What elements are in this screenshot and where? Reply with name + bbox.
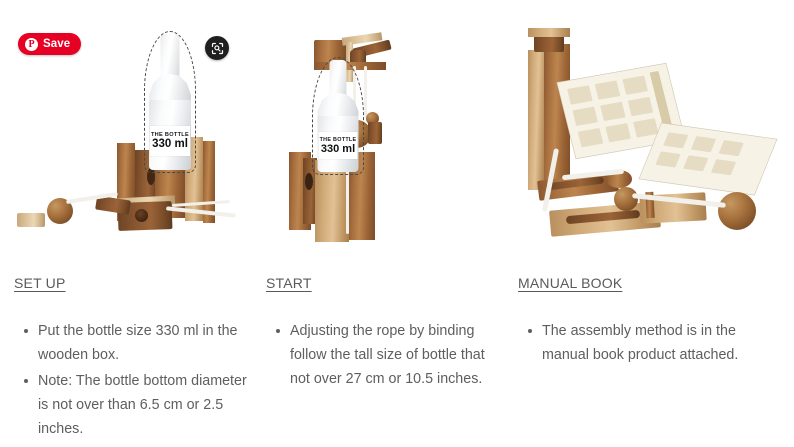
bullet-list-manual-book: The assembly method is in the manual boo… (518, 319, 758, 367)
pinterest-icon: P (25, 38, 38, 51)
manual-figure (691, 136, 716, 152)
manual-figure (663, 132, 688, 148)
bottle-neck (330, 60, 347, 98)
rope-hanging-right (364, 66, 367, 118)
wood-peg-block (368, 122, 382, 144)
manual-figure (719, 140, 744, 156)
manual-book-right-page (639, 123, 776, 195)
product-instructions-page: THE BOTTLE 330 ml P (0, 0, 794, 447)
bullet-list-start: Adjusting the rope by binding follow the… (266, 319, 498, 391)
bottle-330ml: THE BOTTLE 330 ml (147, 34, 193, 170)
list-item: The assembly method is in the manual boo… (518, 319, 758, 367)
wood-small-block (17, 213, 45, 227)
visual-search-button[interactable] (205, 36, 229, 60)
manual-figure (622, 76, 648, 95)
wood-slot-hole (305, 173, 313, 190)
bottle-330ml: THE BOTTLE 330 ml (315, 60, 361, 172)
wood-box-front-panel (315, 160, 349, 242)
bullet-list-set-up: Put the bottle size 330 ml in the wooden… (14, 319, 249, 441)
wood-ball-large (718, 192, 756, 230)
wood-tall-box-rim (528, 28, 570, 37)
lens-scan-icon (210, 41, 225, 56)
manual-figure (595, 80, 621, 99)
product-photo-setup[interactable]: THE BOTTLE 330 ml P (0, 0, 258, 275)
manual-figure (655, 151, 680, 167)
wood-tall-box-left (528, 50, 544, 190)
manual-figure (605, 123, 631, 142)
manual-figure (578, 128, 604, 147)
instruction-column-set-up: SET UP Put the bottle size 330 ml in the… (14, 275, 249, 443)
manual-figure (633, 118, 659, 137)
product-photo-manual-book[interactable] (510, 0, 794, 275)
bottle-label-line2: 330 ml (152, 138, 188, 150)
column-heading-set-up: SET UP (14, 275, 249, 291)
manual-figure (628, 97, 654, 116)
product-image-gallery: THE BOTTLE 330 ml P (0, 0, 794, 275)
wood-ball-small (614, 187, 638, 211)
list-item: Adjusting the rope by binding follow the… (266, 319, 498, 391)
manual-figure (600, 102, 626, 121)
manual-figure (683, 155, 708, 171)
bottle-label: THE BOTTLE 330 ml (150, 126, 190, 156)
column-heading-manual-book: MANUAL BOOK (518, 275, 758, 291)
list-item: Put the bottle size 330 ml in the wooden… (14, 319, 249, 367)
wood-slot-hole (147, 168, 155, 185)
instruction-column-manual-book: MANUAL BOOK The assembly method is in th… (518, 275, 758, 369)
bottle-label: THE BOTTLE 330 ml (319, 132, 358, 159)
instruction-column-start: START Adjusting the rope by binding foll… (266, 275, 498, 393)
manual-figure (711, 159, 736, 175)
manual-figure (567, 85, 593, 104)
wood-block-hole (135, 209, 148, 222)
bottle-label-line2: 330 ml (321, 143, 355, 155)
bottle-neck (161, 34, 180, 80)
save-button-label: Save (43, 38, 70, 50)
list-item: Note: The bottle bottom diameter is not … (14, 369, 249, 441)
instruction-columns: SET UP Put the bottle size 330 ml in the… (0, 275, 794, 447)
product-photo-start[interactable]: THE BOTTLE 330 ml (258, 0, 510, 275)
column-heading-start: START (266, 275, 498, 291)
manual-figure (572, 107, 598, 126)
pinterest-save-button[interactable]: P Save (18, 33, 81, 55)
